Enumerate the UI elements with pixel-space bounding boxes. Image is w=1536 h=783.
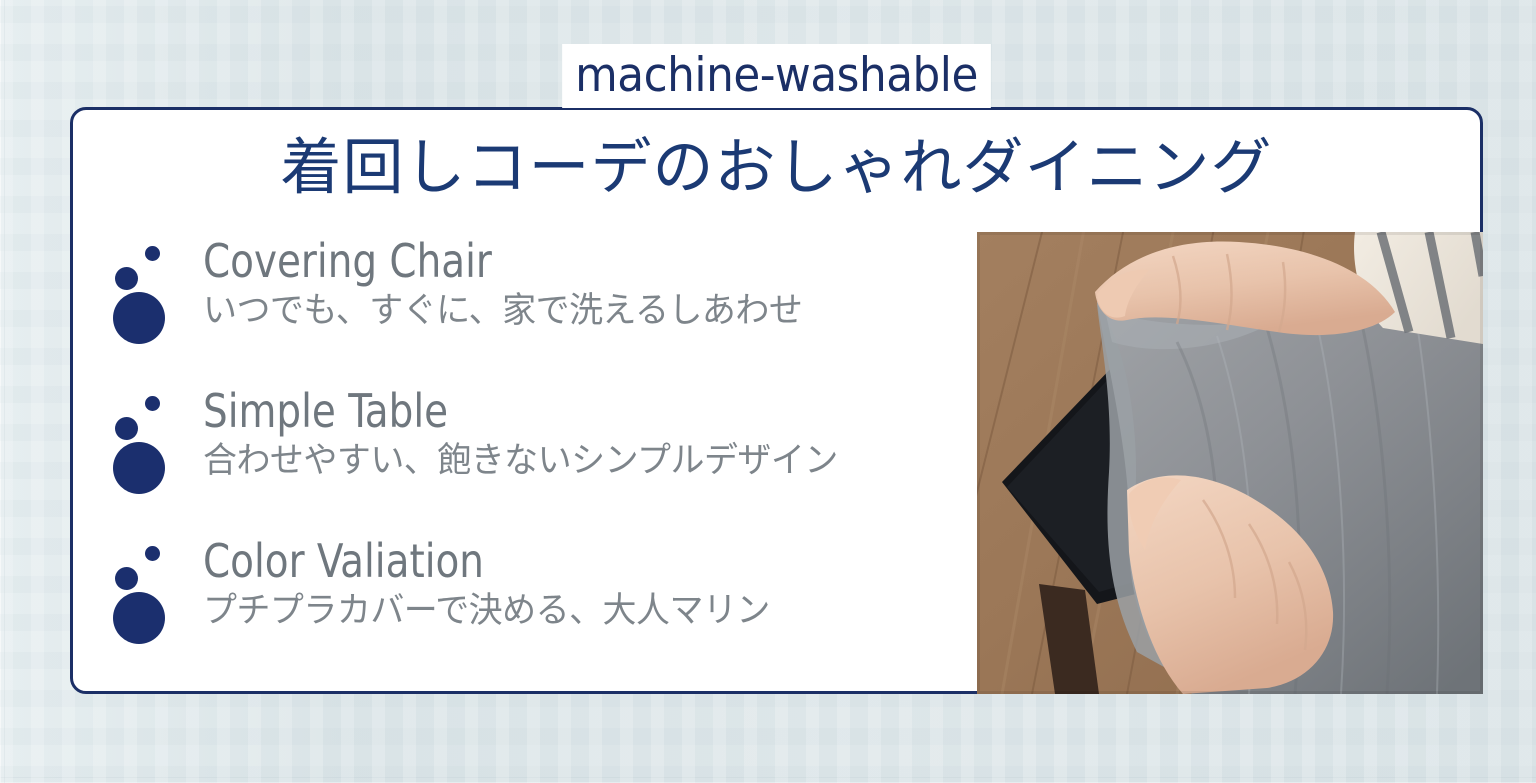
- feature-title: Covering Chair: [203, 236, 934, 286]
- tri-dot-bullet-icon: [109, 242, 175, 334]
- product-card: machine-washable 着回しコーデのおしゃれダイニング Coveri…: [70, 107, 1483, 694]
- bullet-dot-large: [113, 442, 165, 494]
- bullet-dot-large: [113, 592, 165, 644]
- feature-title: Color Valiation: [203, 536, 934, 586]
- feature-item-covering-chair: Covering Chair いつでも、すぐに、家で洗えるしあわせ: [101, 236, 981, 386]
- bullet-dot-small: [145, 246, 160, 261]
- feature-title: Simple Table: [203, 386, 934, 436]
- product-photo: [977, 232, 1483, 694]
- banner-page: machine-washable 着回しコーデのおしゃれダイニング Coveri…: [0, 0, 1536, 783]
- page-title: 着回しコーデのおしゃれダイニング: [73, 132, 1480, 204]
- ribbon-label-text: machine-washable: [562, 44, 991, 108]
- feature-item-simple-table: Simple Table 合わせやすい、飽きないシンプルデザイン: [101, 386, 981, 536]
- tri-dot-bullet-icon: [109, 392, 175, 484]
- feature-item-color-valiation: Color Valiation プチプラカバーで決める、大人マリン: [101, 536, 981, 686]
- tri-dot-bullet-icon: [109, 542, 175, 634]
- bullet-dot-medium: [115, 417, 138, 440]
- ribbon-label: machine-washable: [73, 44, 1480, 108]
- bullet-dot-small: [145, 396, 160, 411]
- feature-description: 合わせやすい、飽きないシンプルデザイン: [203, 440, 958, 482]
- feature-description: プチプラカバーで決める、大人マリン: [203, 590, 958, 632]
- feature-description: いつでも、すぐに、家で洗えるしあわせ: [203, 290, 958, 332]
- bullet-dot-medium: [115, 267, 138, 290]
- bullet-dot-large: [113, 292, 165, 344]
- feature-list: Covering Chair いつでも、すぐに、家で洗えるしあわせ Simple…: [101, 236, 981, 686]
- product-photo-illustration: [977, 232, 1483, 694]
- bullet-dot-small: [145, 546, 160, 561]
- bullet-dot-medium: [115, 567, 138, 590]
